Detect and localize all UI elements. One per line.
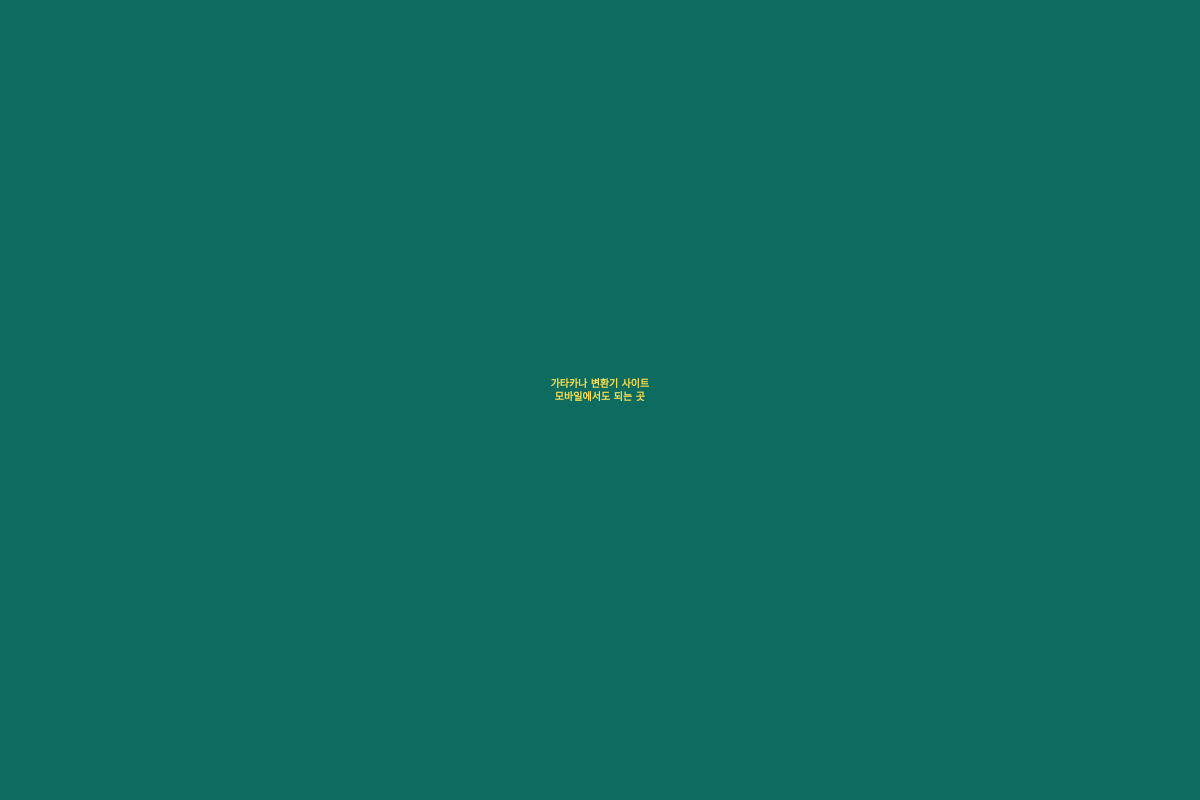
headline-block: 가타카나 변환기 사이트 모바일에서도 되는 곳 xyxy=(0,378,1200,405)
headline-line-1: 가타카나 변환기 사이트 xyxy=(0,378,1200,391)
banner-canvas: 가타카나 변환기 사이트 모바일에서도 되는 곳 xyxy=(0,0,1200,800)
headline-line-2: 모바일에서도 되는 곳 xyxy=(0,391,1200,404)
